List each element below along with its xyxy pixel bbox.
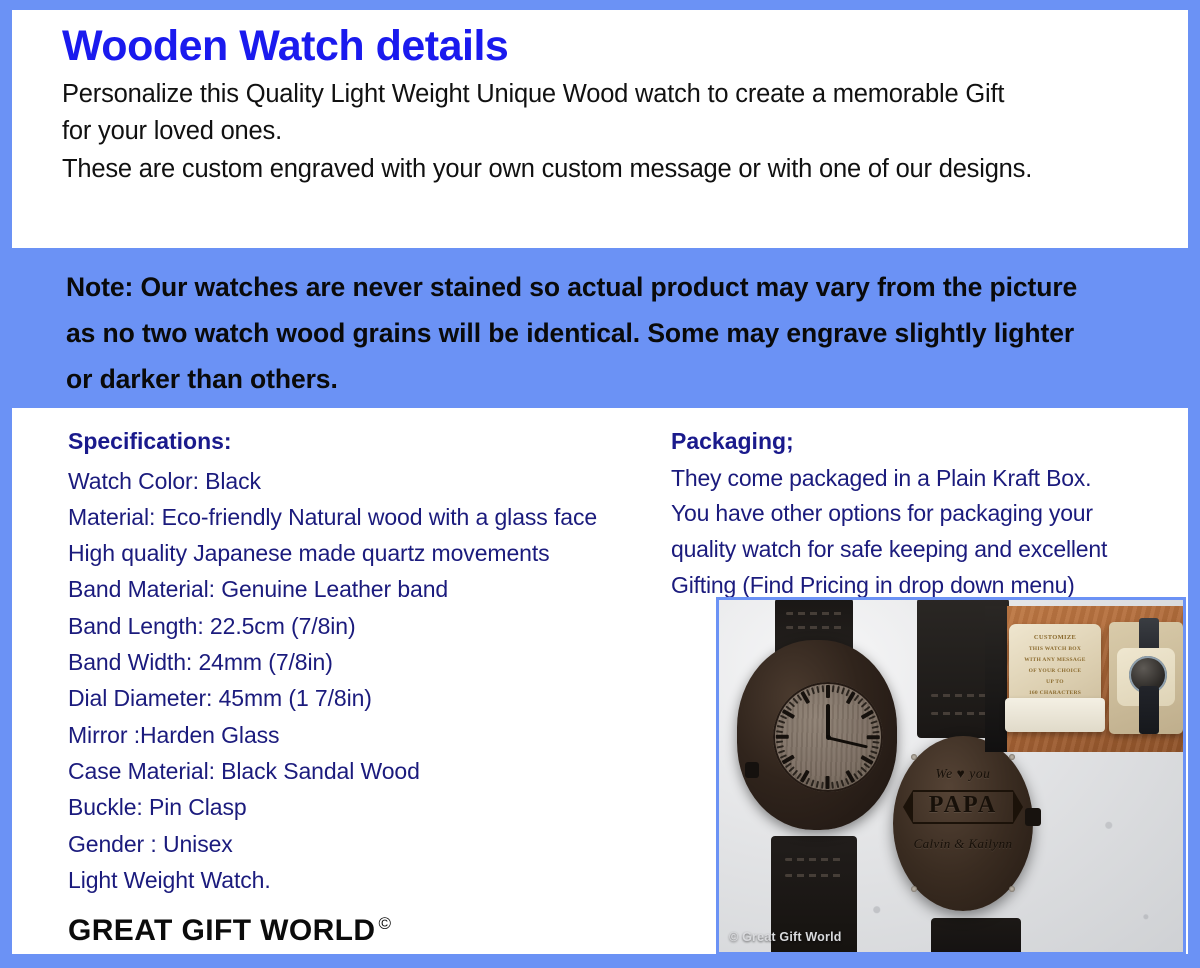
packaging-heading: Packaging; [671,424,1174,459]
lid-line-1: CUSTOMIZE [1009,634,1101,641]
page-title: Wooden Watch details [62,24,1170,69]
spec-item-dial-diameter: Dial Diameter: 45mm (1 7/8in) [68,680,657,716]
watch-hour-hand [826,704,830,738]
spec-item-band-material: Band Material: Genuine Leather band [68,571,657,607]
listing-image: Wooden Watch details Personalize this Qu… [0,0,1200,968]
spec-item-band-length: Band Length: 22.5cm (7/8in) [68,608,657,644]
engraving-banner-text: PAPA [893,792,1033,819]
packaging-line-1: They come packaged in a Plain Kraft Box. [671,461,1174,497]
gift-box-open [1109,622,1183,734]
engraving-top-line: We ♥ you [893,766,1033,782]
spec-item-material: Material: Eco-friendly Natural wood with… [68,499,657,535]
spec-item-gender: Gender : Unisex [68,826,657,862]
left-watch-case [737,640,897,830]
right-watch-caseback: We ♥ you PAPA Calvin & Kailynn [893,736,1033,911]
inset-left-strip [985,606,1007,752]
lid-line-5: UP TO [1009,679,1101,685]
engraving-names: Calvin & Kailynn [893,836,1033,852]
right-watch-crown [1025,808,1041,826]
watch-minute-hand [828,737,868,749]
intro-line-1: Personalize this Quality Light Weight Un… [62,77,1170,112]
lid-line-3: WITH ANY MESSAGE [1009,657,1101,663]
intro-line-3: These are custom engraved with your own … [62,152,1170,187]
lid-line-4: OF YOUR CHOICE [1009,668,1101,674]
intro-line-2: for your loved ones. [62,114,1170,149]
gift-box-base [1005,698,1105,732]
specifications-column: Specifications: Watch Color: Black Mater… [12,424,657,954]
copyright-icon: © [378,914,391,933]
spec-item-case-material: Case Material: Black Sandal Wood [68,753,657,789]
left-watch-dial [773,682,883,792]
spec-item-movement: High quality Japanese made quartz moveme… [68,535,657,571]
packaging-line-2: You have other options for packaging you… [671,496,1174,532]
brand-logo: GREAT GIFT WORLD© [68,914,657,948]
note-line-1: Note: Our watches are never stained so a… [66,264,1182,310]
note-line-3: or darker than others. [66,356,1182,402]
specifications-heading: Specifications: [68,424,657,459]
note-line-2: as no two watch wood grains will be iden… [66,310,1182,356]
note-band: Note: Our watches are never stained so a… [12,248,1188,408]
watch-hand-pivot [826,735,831,740]
brand-name: GREAT GIFT WORLD [68,914,375,947]
gift-box-lid: CUSTOMIZE THIS WATCH BOX WITH ANY MESSAG… [1009,624,1101,706]
spec-item-weight: Light Weight Watch. [68,862,657,898]
spec-item-buckle: Buckle: Pin Clasp [68,789,657,825]
packaging-line-3: quality watch for safe keeping and excel… [671,532,1174,568]
spec-item-watch-color: Watch Color: Black [68,463,657,499]
spec-item-mirror: Mirror :Harden Glass [68,717,657,753]
lid-line-2: THIS WATCH BOX [1009,646,1101,652]
left-watch-crown [745,762,759,778]
product-photo: We ♥ you PAPA Calvin & Kailynn CUSTOMIZE… [716,597,1186,955]
intro-panel: Wooden Watch details Personalize this Qu… [12,10,1188,248]
right-watch-band-bottom [931,918,1021,955]
spec-item-band-width: Band Width: 24mm (7/8in) [68,644,657,680]
lid-line-6: 160 CHARACTERS [1009,690,1101,696]
inset-watch-strap-bottom [1139,686,1159,734]
photo-watermark: © Great Gift World [729,930,842,944]
gift-box-inset-photo: CUSTOMIZE THIS WATCH BOX WITH ANY MESSAG… [985,606,1183,752]
